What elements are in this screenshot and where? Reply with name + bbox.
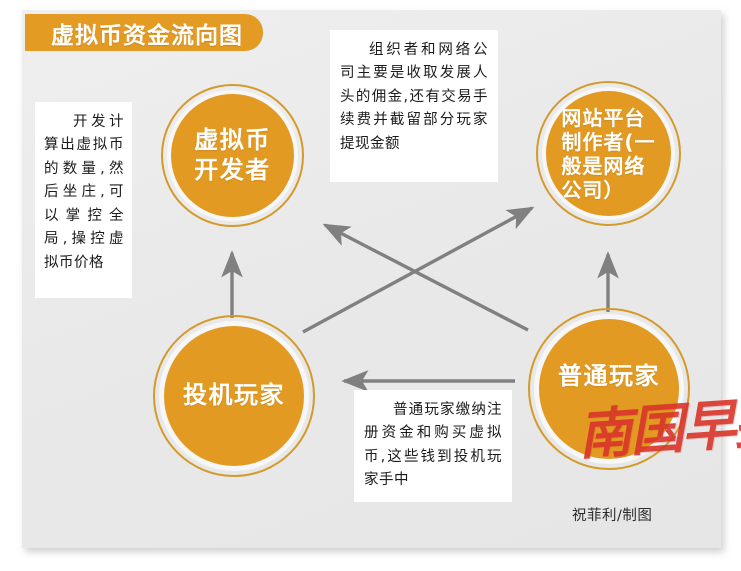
note-organizer: 组织者和网络公司主要是收取发展人头的佣金,还有交易手续费并截留部分玩家提现金额	[330, 30, 498, 182]
node-ordinary-player-label: 普通玩家	[558, 362, 660, 391]
note-organizer-text: 组织者和网络公司主要是收取发展人头的佣金,还有交易手续费并截留部分玩家提现金额	[340, 39, 488, 156]
node-virtual-currency-developer[interactable]: 虚拟币 开发者	[171, 94, 294, 217]
note-developer: 开发计算出虚拟币的数量,然后坐庄,可以掌控全局,操控虚拟币价格	[35, 102, 132, 298]
note-ordinary-player-text: 普通玩家缴纳注册资金和购买虚拟币,这些钱到投机玩家手中	[364, 399, 502, 493]
node-speculative-player[interactable]: 投机玩家	[164, 326, 304, 466]
infographic-canvas: 虚拟币 开发者 网站平台 制作者(一 般是网络 公司） 投机玩家 普通玩家 南国…	[0, 0, 741, 571]
node-website-platform-maker-label: 网站平台 制作者(一 般是网络 公司）	[561, 106, 655, 202]
node-virtual-currency-developer-label: 虚拟币 开发者	[194, 126, 271, 185]
node-website-platform-maker[interactable]: 网站平台 制作者(一 般是网络 公司）	[546, 91, 671, 216]
newspaper-watermark: 南国早报	[575, 385, 736, 474]
note-ordinary-player: 普通玩家缴纳注册资金和购买虚拟币,这些钱到投机玩家手中	[354, 390, 512, 502]
page-title: 虚拟币资金流向图	[51, 16, 243, 50]
credit-line: 祝菲利/制图	[572, 504, 652, 525]
node-speculative-player-label: 投机玩家	[183, 381, 285, 410]
note-developer-text: 开发计算出虚拟币的数量,然后坐庄,可以掌控全局,操控虚拟币价格	[44, 111, 124, 275]
title-banner: 虚拟币资金流向图	[25, 14, 263, 51]
